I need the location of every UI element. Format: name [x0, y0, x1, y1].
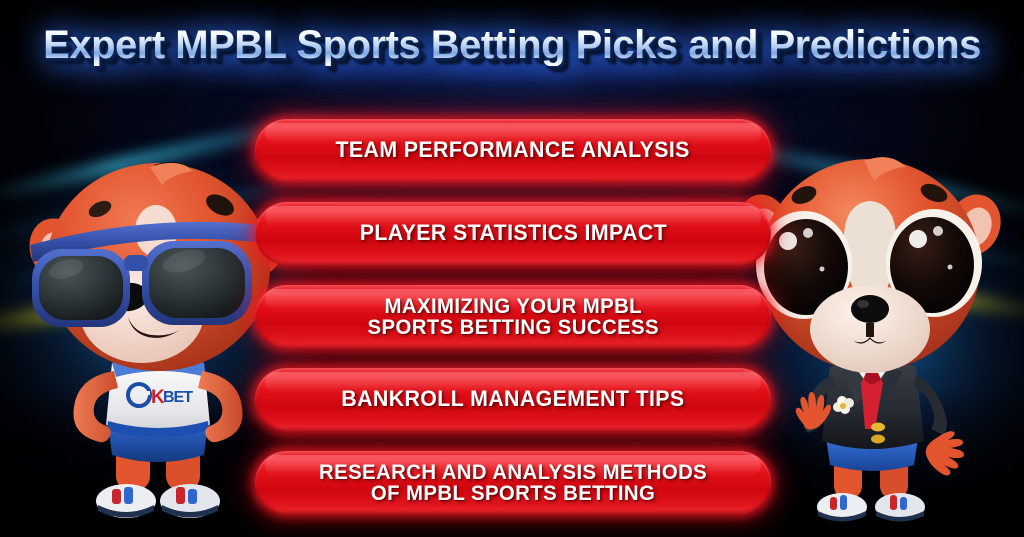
- page-title: Expert MPBL Sports Betting Picks and Pre…: [0, 24, 1024, 66]
- page-title-container: Expert MPBL Sports Betting Picks and Pre…: [0, 24, 1024, 66]
- mascot-left-shoes: [96, 484, 220, 518]
- svg-text:BET: BET: [163, 389, 193, 406]
- mascot-right-suit: [730, 137, 1020, 537]
- topic-button-bankroll-management-tips[interactable]: BANKROLL MANAGEMENT TIPS: [255, 368, 771, 431]
- banner-root: K BET: [0, 0, 1024, 537]
- suit-button-1: [871, 423, 885, 432]
- topic-button-player-statistics-impact[interactable]: PLAYER STATISTICS IMPACT: [255, 202, 771, 265]
- mascot-hand-right-open: [926, 431, 964, 475]
- topic-button-maximizing-your-mpbl-sports-betting-success[interactable]: MAXIMIZING YOUR MPBL SPORTS BETTING SUCC…: [255, 285, 771, 348]
- topic-button-label: MAXIMIZING YOUR MPBL SPORTS BETTING SUCC…: [354, 296, 673, 338]
- topic-button-research-and-analysis-methods-of-mpbl-sports-betting[interactable]: RESEARCH AND ANALYSIS METHODS OF MPBL SP…: [255, 451, 771, 514]
- topic-button-label: PLAYER STATISTICS IMPACT: [346, 222, 680, 244]
- topic-button-label: TEAM PERFORMANCE ANALYSIS: [322, 139, 703, 161]
- mascot-sunglasses: [30, 222, 276, 327]
- topic-button-list: TEAM PERFORMANCE ANALYSIS PLAYER STATIST…: [255, 119, 771, 514]
- mascot-shadow: [794, 519, 946, 537]
- nose-highlight: [857, 300, 869, 308]
- mascot-nose: [851, 295, 889, 323]
- topic-button-label: RESEARCH AND ANALYSIS METHODS OF MPBL SP…: [305, 462, 720, 504]
- topic-button-label: BANKROLL MANAGEMENT TIPS: [328, 388, 698, 410]
- mascot-shadow: [72, 518, 244, 537]
- suit-button-2: [871, 435, 885, 444]
- mascot-right-shoes: [817, 493, 925, 522]
- topic-button-team-performance-analysis[interactable]: TEAM PERFORMANCE ANALYSIS: [255, 119, 771, 182]
